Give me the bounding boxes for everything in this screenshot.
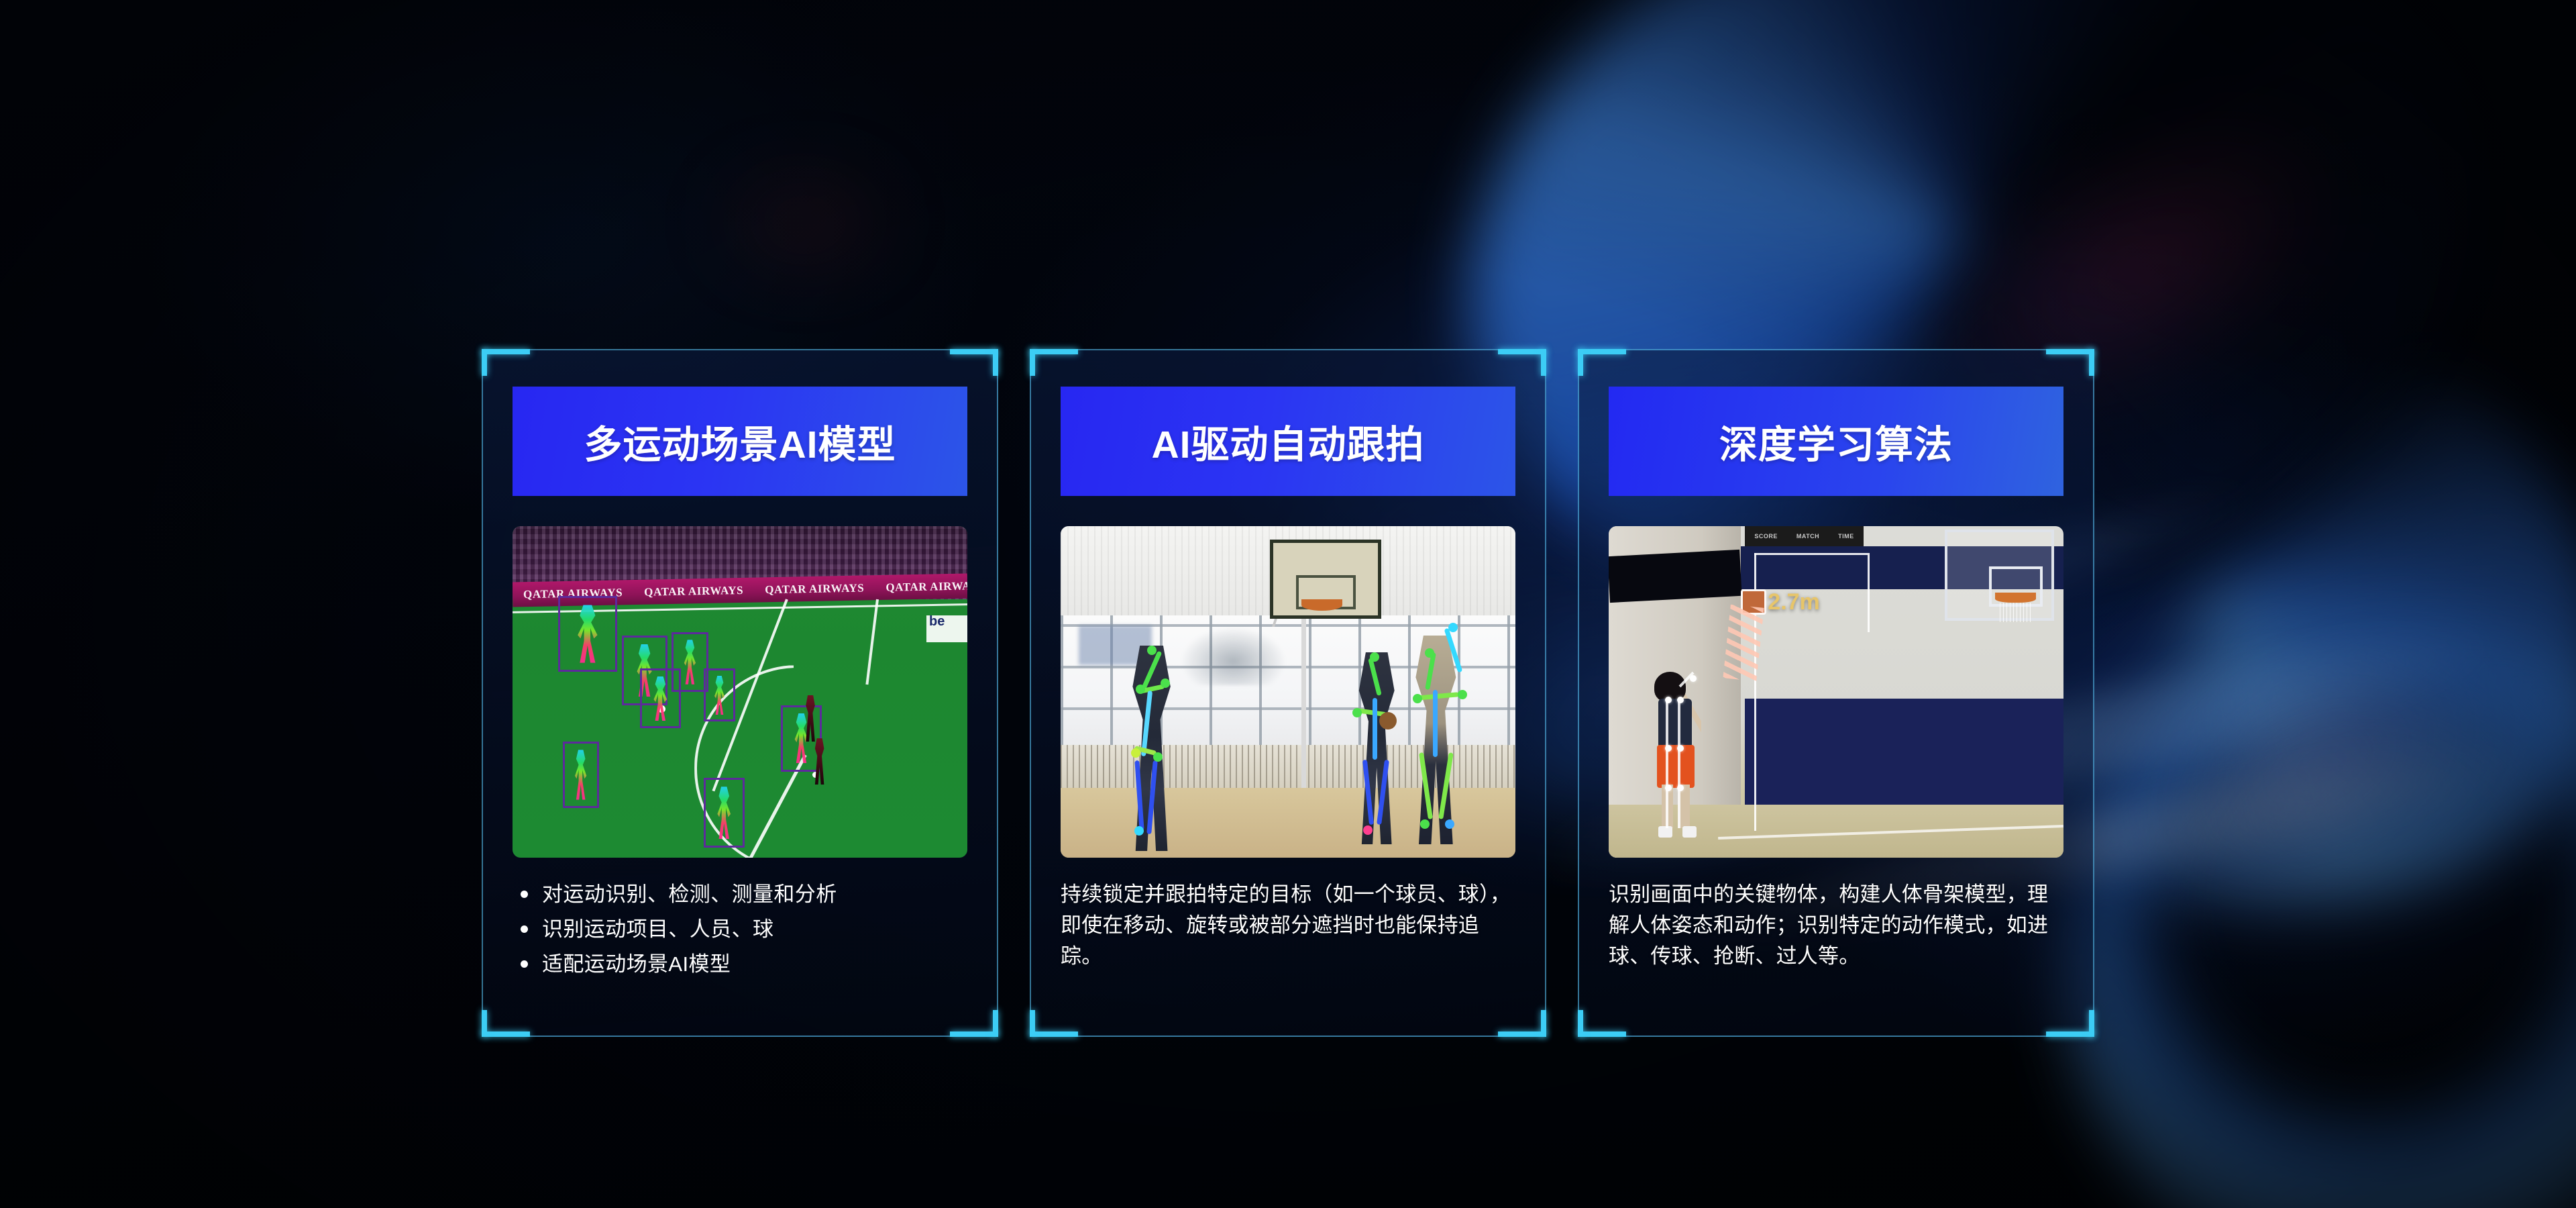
skeleton-joint bbox=[1690, 675, 1697, 682]
soccer-detection-image: QATAR AIRWAYS QATAR AIRWAYS QATAR AIRWAY… bbox=[513, 526, 967, 858]
skeleton-joint bbox=[1425, 648, 1434, 658]
skeleton-joint bbox=[1677, 745, 1684, 752]
basketball bbox=[1379, 712, 1397, 729]
bullet-item: 对运动识别、检测、测量和分析 bbox=[513, 879, 967, 910]
shooter-shoe-left bbox=[1658, 826, 1672, 838]
shot-analysis-image: SCORE MATCH TIME 2.7m bbox=[1609, 526, 2063, 858]
skeleton-segment bbox=[1678, 788, 1680, 827]
description-text: 持续锁定并跟拍特定的目标（如一个球员、球），即使在移动、旋转或被部分遮挡时也能保… bbox=[1061, 879, 1515, 972]
pose-skeleton bbox=[710, 676, 729, 715]
sponsor-logo bbox=[926, 615, 967, 642]
feature-card-sports-ai-model[interactable]: 多运动场景AI模型 QATAR AIRWAYS QATAR AIRWAYS QA… bbox=[482, 349, 998, 1037]
basketball-hoop bbox=[1995, 593, 2036, 603]
pose-skeleton bbox=[649, 676, 672, 721]
tracked-player bbox=[1397, 636, 1474, 844]
tracked-player bbox=[1115, 646, 1187, 851]
skeleton-segment bbox=[1666, 748, 1668, 788]
measurement-line-horizontal bbox=[1754, 553, 1868, 555]
card-title-banner: 深度学习算法 bbox=[1609, 387, 2063, 496]
wall-dark-band bbox=[1609, 549, 1741, 602]
sponsor-text: QATAR AIRWAYS bbox=[875, 578, 967, 594]
description-text: 识别画面中的关键物体，构建人体骨架模型，理解人体姿态和动作；识别特定的动作模式，… bbox=[1609, 879, 2063, 972]
measurement-label: 2.7m bbox=[1768, 589, 1820, 615]
sponsor-text: QATAR AIRWAYS bbox=[633, 583, 754, 599]
pose-skeleton bbox=[570, 750, 591, 799]
card-content: AI驱动自动跟拍 bbox=[1061, 349, 1515, 1037]
card-title-banner: 多运动场景AI模型 bbox=[513, 387, 967, 496]
feature-cards: 多运动场景AI模型 QATAR AIRWAYS QATAR AIRWAYS QA… bbox=[0, 0, 2576, 1208]
card-title: AI驱动自动跟拍 bbox=[1152, 414, 1425, 469]
card-description: 持续锁定并跟拍特定的目标（如一个球员、球），即使在移动、旋转或被部分遮挡时也能保… bbox=[1061, 879, 1515, 997]
shooter-shorts bbox=[1657, 745, 1694, 788]
scoreboard-label: MATCH bbox=[1796, 533, 1819, 540]
detection-box bbox=[558, 596, 617, 672]
basketball-net bbox=[2000, 603, 2031, 623]
scoreboard-label: TIME bbox=[1838, 533, 1854, 540]
skeleton-joint bbox=[1161, 678, 1170, 688]
basketball-hoop bbox=[1301, 599, 1342, 611]
skeleton-segment bbox=[1678, 748, 1680, 788]
card-title-banner: AI驱动自动跟拍 bbox=[1061, 387, 1515, 496]
detection-box bbox=[672, 632, 708, 692]
wall-navy-lower-pad bbox=[1745, 699, 2063, 805]
skeleton-joint bbox=[1665, 745, 1672, 752]
detection-box bbox=[563, 742, 599, 808]
tracked-shooter bbox=[1650, 672, 1704, 838]
sponsor-text: QATAR AIRWAYS bbox=[754, 581, 875, 596]
card-content: 深度学习算法 SCORE MATCH TIME bbox=[1609, 349, 2063, 1037]
gym-window-tree-silhouette bbox=[1179, 625, 1288, 685]
shooter-shoe-right bbox=[1682, 826, 1697, 838]
skeleton-joint bbox=[1136, 685, 1145, 694]
card-description: 识别画面中的关键物体，构建人体骨架模型，理解人体姿态和动作；识别特定的动作模式，… bbox=[1609, 879, 2063, 997]
card-description: 对运动识别、检测、测量和分析 识别运动项目、人员、球 适配运动场景AI模型 bbox=[513, 879, 967, 997]
skeleton-joint bbox=[1131, 748, 1140, 758]
skeleton-joint bbox=[1458, 690, 1467, 699]
scoreboard-label: SCORE bbox=[1754, 533, 1778, 540]
hoop-support-post bbox=[1301, 615, 1306, 788]
pose-skeleton bbox=[680, 640, 700, 684]
detection-box bbox=[704, 668, 735, 721]
scoreboard: SCORE MATCH TIME bbox=[1745, 526, 1863, 546]
basketball-pose-tracking-image bbox=[1061, 526, 1515, 858]
skeleton-segment bbox=[1678, 699, 1680, 748]
skeleton-joint bbox=[1352, 708, 1362, 717]
measurement-line-vertical-2 bbox=[1868, 553, 1870, 633]
skeleton-joint bbox=[1363, 825, 1373, 835]
feature-card-deep-learning-algorithm[interactable]: 深度学习算法 SCORE MATCH TIME bbox=[1578, 349, 2094, 1037]
skeleton-joint bbox=[1677, 785, 1684, 791]
card-title: 深度学习算法 bbox=[1719, 414, 1953, 469]
pose-skeleton bbox=[712, 787, 736, 839]
pose-skeleton bbox=[570, 605, 606, 662]
card-title: 多运动场景AI模型 bbox=[584, 414, 896, 469]
skeleton-segment bbox=[1373, 698, 1377, 760]
skeleton-joint bbox=[1445, 819, 1454, 829]
skeleton-segment bbox=[1433, 690, 1438, 757]
detection-box bbox=[704, 778, 745, 848]
detection-box bbox=[781, 705, 822, 772]
feature-card-ai-auto-tracking[interactable]: AI驱动自动跟拍 bbox=[1030, 349, 1546, 1037]
skeleton-joint bbox=[1134, 826, 1144, 836]
skeleton-joint bbox=[1370, 652, 1379, 662]
skeleton-joint bbox=[1153, 752, 1163, 762]
bullet-item: 适配运动场景AI模型 bbox=[513, 949, 967, 980]
card-content: 多运动场景AI模型 QATAR AIRWAYS QATAR AIRWAYS QA… bbox=[513, 349, 967, 1037]
skeleton-joint bbox=[1413, 694, 1422, 703]
feature-bullet-list: 对运动识别、检测、测量和分析 识别运动项目、人员、球 适配运动场景AI模型 bbox=[513, 879, 967, 980]
bullet-item: 识别运动项目、人员、球 bbox=[513, 914, 967, 945]
shooter-jersey bbox=[1658, 699, 1692, 748]
skeleton-segment bbox=[1666, 699, 1668, 748]
skeleton-joint bbox=[1147, 646, 1157, 655]
skeleton-segment bbox=[1666, 788, 1668, 827]
